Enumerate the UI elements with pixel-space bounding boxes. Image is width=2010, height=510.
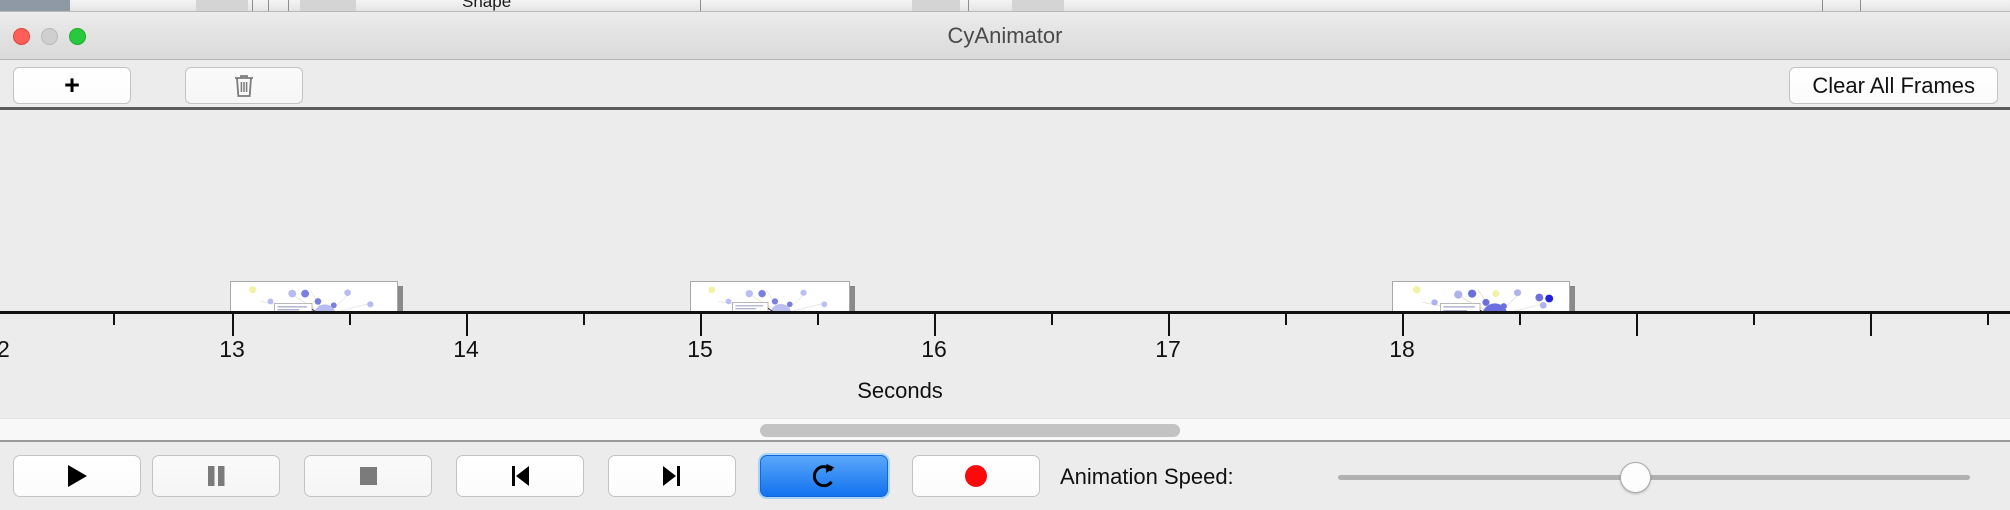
axis-tick-minor-5 [583, 314, 585, 325]
axis-tick-label-13: 13 [219, 336, 245, 363]
axis-tick-major-10 [1168, 314, 1170, 336]
animation-speed-label: Animation Speed: [1060, 444, 1234, 510]
skip-back-icon [507, 462, 533, 490]
frame-timeline-panel[interactable]: MCM1 [0, 113, 2010, 311]
axis-tick-label-12: 12 [0, 336, 10, 363]
title-bar: CyAnimator [0, 12, 2010, 60]
clear-all-frames-button[interactable]: Clear All Frames [1789, 67, 1998, 104]
frame-thumbnail-3[interactable]: MCM1 [1392, 281, 1570, 311]
timeline-scrollbar[interactable] [0, 418, 2010, 442]
axis-tick-minor-3 [349, 314, 351, 325]
loop-button[interactable] [760, 455, 888, 497]
prev-frame-button[interactable] [456, 455, 584, 497]
add-frame-button[interactable]: + [13, 67, 131, 104]
timeline-axis[interactable]: 12131415161718 [0, 311, 2010, 371]
axis-tick-minor-1 [113, 314, 115, 325]
record-button[interactable] [912, 455, 1040, 497]
axis-tick-minor-9 [1051, 314, 1053, 325]
frame-thumbnail-2[interactable]: MCM1 [690, 281, 850, 311]
pause-button[interactable] [152, 455, 280, 497]
pause-icon [204, 462, 228, 490]
axis-tick-label-15: 15 [687, 336, 713, 363]
skip-forward-icon [659, 462, 685, 490]
axis-tick-major-16 [1870, 314, 1872, 336]
axis-tick-minor-7 [817, 314, 819, 325]
axis-tick-major-6 [700, 314, 702, 336]
frame-thumbnail-1[interactable]: MCM1 [230, 281, 398, 311]
toolbar: + Clear All Frames [0, 60, 2010, 110]
window-title: CyAnimator [0, 12, 2010, 60]
trash-icon [233, 73, 255, 98]
axis-tick-minor-13 [1519, 314, 1521, 325]
axis-tick-label-14: 14 [453, 336, 479, 363]
axis-tick-label-18: 18 [1389, 336, 1415, 363]
record-icon [962, 462, 990, 490]
axis-tick-label-16: 16 [921, 336, 947, 363]
slider-thumb[interactable] [1620, 462, 1651, 493]
play-button[interactable] [13, 455, 141, 497]
play-icon [64, 462, 90, 490]
axis-tick-major-14 [1636, 314, 1638, 336]
playback-toolbar: Animation Speed: [0, 444, 2010, 510]
axis-tick-minor-17 [1987, 314, 1989, 325]
stop-icon [356, 462, 380, 490]
axis-tick-major-8 [934, 314, 936, 336]
animation-speed-slider[interactable] [1338, 475, 1970, 480]
axis-title: Seconds [0, 378, 2010, 404]
background-window-strip: Shape [0, 0, 2010, 12]
axis-tick-major-12 [1402, 314, 1404, 336]
loop-icon [809, 461, 839, 491]
axis-tick-minor-15 [1753, 314, 1755, 325]
axis-tick-major-2 [232, 314, 234, 336]
axis-tick-minor-11 [1285, 314, 1287, 325]
delete-frame-button[interactable] [185, 67, 303, 104]
plus-icon: + [64, 72, 80, 99]
stop-button[interactable] [304, 455, 432, 497]
scrollbar-thumb[interactable] [760, 424, 1180, 437]
axis-tick-major-4 [466, 314, 468, 336]
axis-tick-label-17: 17 [1155, 336, 1181, 363]
cyanimator-window: Shape CyAnimator + Clear All Frames [0, 0, 2010, 510]
next-frame-button[interactable] [608, 455, 736, 497]
axis-line [0, 311, 2010, 314]
